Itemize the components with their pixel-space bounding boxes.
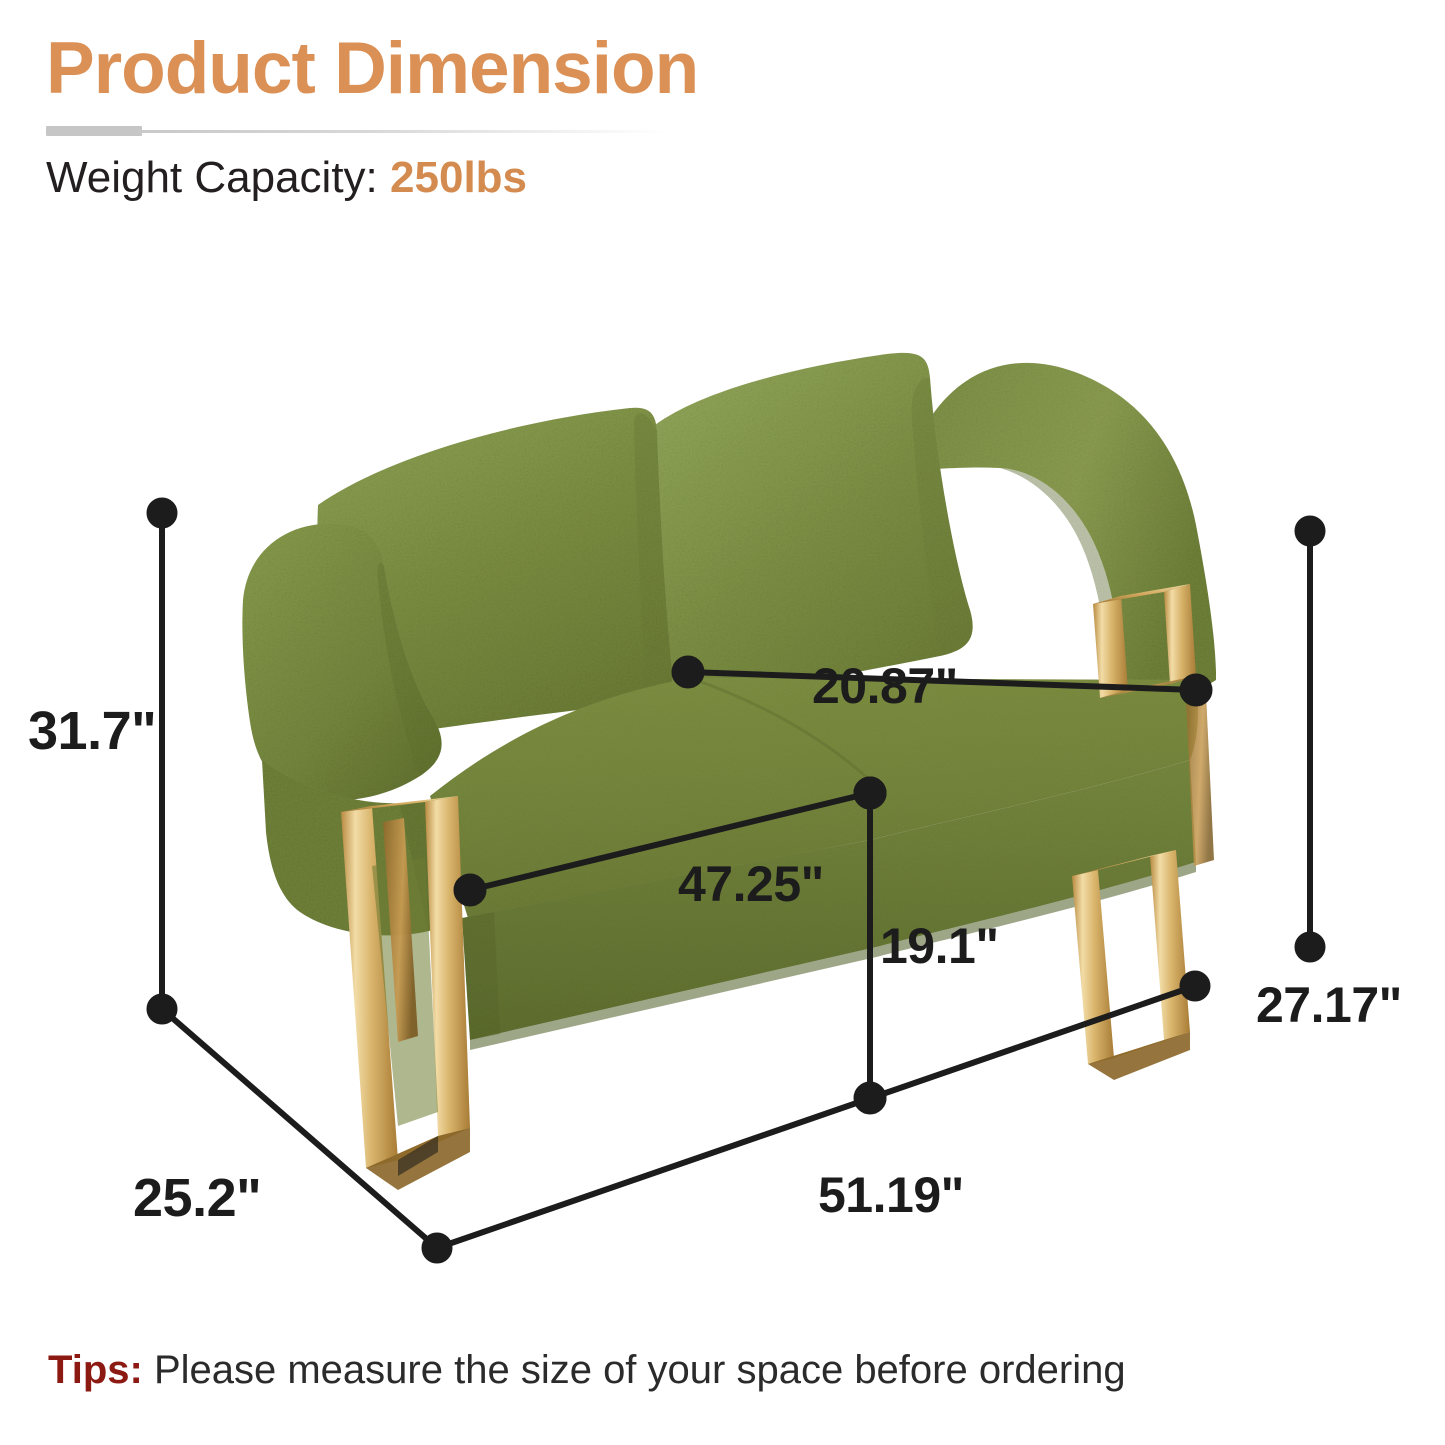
dimension-label-seat-width: 47.25" <box>678 855 824 913</box>
dimension-label-back-height: 27.17" <box>1256 976 1402 1034</box>
dimension-junction-dot <box>854 777 886 809</box>
dimension-label-seat-height: 19.1" <box>880 917 999 975</box>
tips-text: Please measure the size of your space be… <box>143 1348 1126 1392</box>
tips-note: Tips: Please measure the size of your sp… <box>48 1348 1126 1393</box>
dimension-line-back-height <box>1295 516 1325 962</box>
dimension-label-overall-height: 31.7" <box>28 700 156 762</box>
tips-label: Tips: <box>48 1348 143 1392</box>
sofa-illustration <box>242 353 1216 1190</box>
sofa-back-cushion-right <box>655 353 973 701</box>
dimension-label-seat-depth: 20.87" <box>812 657 958 715</box>
dimension-label-overall-width: 51.19" <box>818 1166 964 1224</box>
product-dimension-infographic: Product Dimension Weight Capacity: 250lb… <box>0 0 1445 1445</box>
dimension-label-overall-depth: 25.2" <box>133 1167 261 1229</box>
